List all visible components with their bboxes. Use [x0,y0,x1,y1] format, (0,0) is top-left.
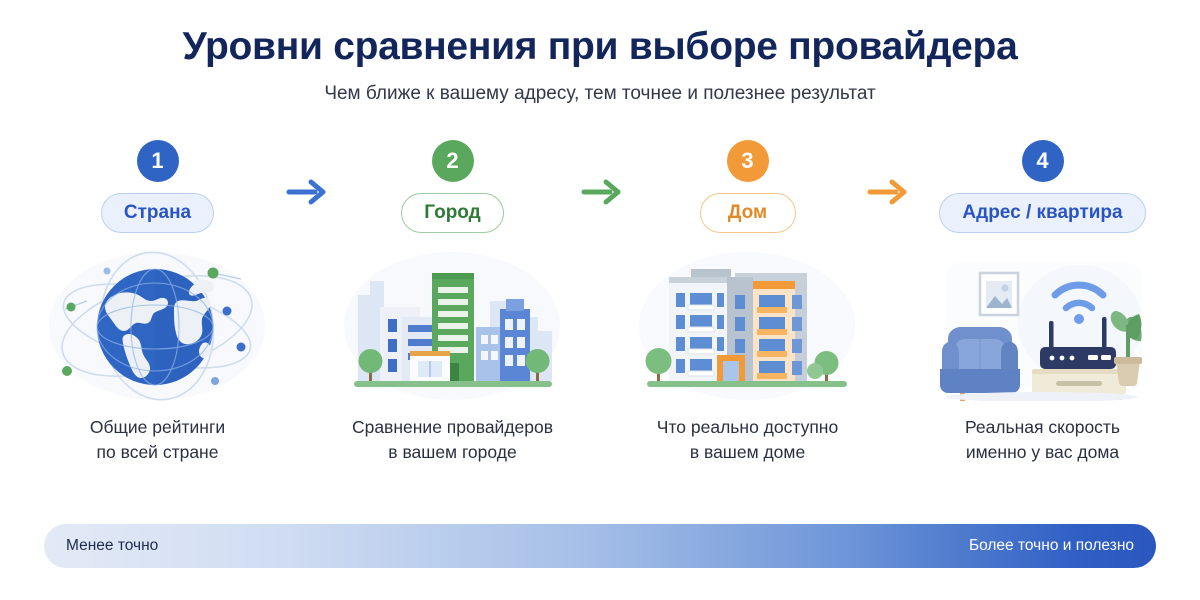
header: Уровни сравнения при выборе провайдера Ч… [0,0,1200,105]
step-country[interactable]: 1 Страна [30,140,285,465]
arrow-step-2-to-3 [580,175,626,209]
apartment-building-illustration [635,251,860,401]
step-label-city[interactable]: Город [401,193,503,233]
city-skyline-illustration [340,251,565,401]
step-badge-3: 3 [727,140,769,182]
page-title: Уровни сравнения при выборе провайдера [0,26,1200,69]
step-city[interactable]: 2 Город [325,140,580,465]
step-caption-city: Сравнение провайдеров в вашем городе [352,415,553,465]
arrow-step-3-to-4 [866,175,912,209]
step-house[interactable]: 3 Дом [620,140,875,465]
step-apartment[interactable]: 4 Адрес / квартира [915,140,1170,465]
scale-right-label: Более точно и полезно [969,537,1134,555]
step-label-country[interactable]: Страна [101,193,214,233]
living-room-router-illustration [930,251,1155,401]
arrow-step-1-to-2 [285,175,331,209]
step-caption-house: Что реально доступно в вашем доме [657,415,838,465]
step-caption-apartment: Реальная скорость именно у вас дома [965,415,1120,465]
step-badge-1: 1 [137,140,179,182]
step-caption-country: Общие рейтинги по всей стране [90,415,225,465]
step-badge-2: 2 [432,140,474,182]
precision-scale-bar: Менее точно Более точно и полезно [44,524,1156,568]
scale-left-label: Менее точно [66,537,158,555]
page-subtitle: Чем ближе к вашему адресу, тем точнее и … [0,83,1200,105]
step-label-house[interactable]: Дом [700,193,796,233]
globe-illustration [45,251,270,401]
step-label-apartment[interactable]: Адрес / квартира [939,193,1145,233]
infographic-canvas: Уровни сравнения при выборе провайдера Ч… [0,0,1200,600]
step-badge-4: 4 [1022,140,1064,182]
